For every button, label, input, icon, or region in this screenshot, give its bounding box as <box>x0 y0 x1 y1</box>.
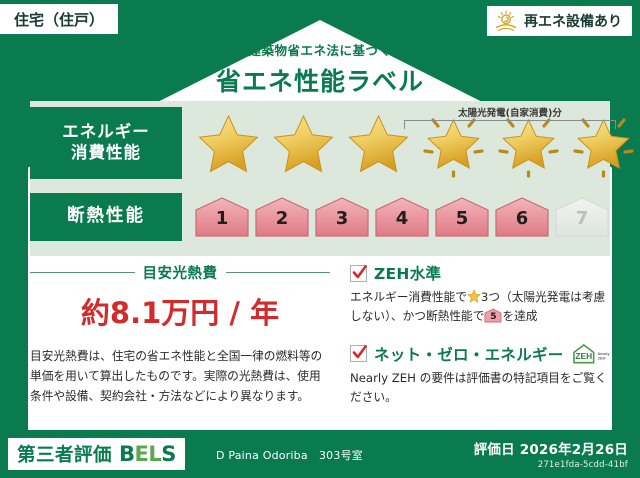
insulation-chip-inline: 5 <box>484 308 502 323</box>
insulation-chip-3: 3 <box>314 196 370 238</box>
evaluation-info: 評価日 2026年2月26日 271e1fda-5cdd-41bf <box>474 438 628 470</box>
insulation-performance-label: 断熱性能 <box>30 193 182 241</box>
energy-performance-label: エネルギー 消費性能 <box>30 107 182 179</box>
insulation-chip-inline-label: 5 <box>484 310 502 325</box>
bels-jp-label: 第三者評価 <box>17 441 112 467</box>
insulation-chip-6: 6 <box>494 196 550 238</box>
insulation-chip-label: 5 <box>434 208 490 229</box>
net-zero-energy-item: ネット・ゼロ・エネルギー ZEH Nearly ZEH Nearly ZEH の… <box>350 343 612 407</box>
insulation-grade-scale: 1 2 3 4 5 <box>182 193 610 241</box>
ratings-panel: エネルギー 消費性能 <box>30 101 610 256</box>
utility-cost-heading: 目安光熱費 <box>30 262 330 283</box>
zeh-standard-description: エネルギー消費性能で3つ（太陽光発電は考慮しない）、かつ断熱性能で5を達成 <box>350 288 612 326</box>
insulation-chip-label: 7 <box>554 208 610 229</box>
energy-performance-row: エネルギー 消費性能 <box>30 107 610 179</box>
insulation-chip-label: 2 <box>254 208 310 229</box>
insulation-chip-label: 4 <box>374 208 430 229</box>
utility-cost-note: 目安光熱費は、住宅の省エネ性能と全国一律の燃料等の単価を用いて算出したものです。… <box>30 346 330 406</box>
energy-label-line2: 消費性能 <box>71 143 141 164</box>
renewable-badge-label: 再エネ設備あり <box>524 11 622 31</box>
zeh-desc-part3: を達成 <box>502 309 537 323</box>
star-icon <box>192 108 265 178</box>
bels-letter-b: B <box>119 442 135 466</box>
heading-rule-right <box>226 272 331 273</box>
label-header: 建築物省エネ法に基づく 省エネ性能ラベル <box>0 40 640 98</box>
insulation-chip-label: 6 <box>494 208 550 229</box>
star-rating <box>182 107 640 179</box>
star-icon-solar <box>417 108 490 178</box>
bels-letter-s: S <box>161 442 176 466</box>
star-icon-solar <box>492 108 565 178</box>
zeh-standard-title-row: ZEH水準 <box>350 262 612 284</box>
utility-cost-block: 目安光熱費 約8.1万円 / 年 目安光熱費は、住宅の省エネ性能と全国一律の燃料… <box>30 262 330 406</box>
star-icon <box>342 108 415 178</box>
bels-en-logo: BELS <box>119 442 176 466</box>
zeh-section: ZEH水準 エネルギー消費性能で3つ（太陽光発電は考慮しない）、かつ断熱性能で5… <box>350 262 612 407</box>
insulation-label-text: 断熱性能 <box>67 206 145 228</box>
insulation-chip-label: 3 <box>314 208 370 229</box>
category-tag: 住宅（住戸） <box>0 4 118 34</box>
net-zero-description: Nearly ZEH の要件は評価書の特記項目をご覧ください。 <box>350 369 612 407</box>
energy-stars-area: 太陽光発電(自家消費)分 <box>182 107 640 179</box>
insulation-chip-1: 1 <box>194 196 250 238</box>
utility-cost-value: 約8.1万円 / 年 <box>30 290 330 332</box>
bels-certification-tag: 第三者評価 BELS <box>8 438 185 470</box>
svg-text:ZEH: ZEH <box>597 356 605 361</box>
insulation-chip-label: 1 <box>194 208 250 229</box>
net-zero-title: ネット・ゼロ・エネルギー <box>374 343 564 365</box>
energy-label-line1: エネルギー <box>62 122 150 143</box>
star-icon <box>267 108 340 178</box>
sun-icon <box>493 10 519 32</box>
page-title: 省エネ性能ラベル <box>0 62 640 98</box>
star-icon-inline <box>467 289 481 303</box>
insulation-chip-2: 2 <box>254 196 310 238</box>
bels-letter-el: EL <box>135 442 162 466</box>
insulation-chip-5: 5 <box>434 196 490 238</box>
evaluation-id: 271e1fda-5cdd-41bf <box>474 460 628 470</box>
property-name: D Paina Odoriba 303号室 <box>216 447 363 463</box>
renewable-equipment-badge: 再エネ設備あり <box>487 6 632 36</box>
insulation-chips-area: 1 2 3 4 5 <box>182 193 610 241</box>
heading-rule-left <box>30 272 135 273</box>
utility-cost-heading-label: 目安光熱費 <box>143 262 218 283</box>
evaluation-date: 評価日 2026年2月26日 <box>474 438 628 458</box>
insulation-performance-row: 断熱性能 1 <box>30 193 610 241</box>
insulation-chip-4: 4 <box>374 196 430 238</box>
star-icon-solar <box>567 108 640 178</box>
label-footer: 第三者評価 BELS D Paina Odoriba 303号室 評価日 202… <box>0 432 640 478</box>
insulation-chip-7: 7 <box>554 196 610 238</box>
category-tag-label: 住宅（住戸） <box>14 9 104 30</box>
net-zero-title-row: ネット・ゼロ・エネルギー ZEH Nearly ZEH <box>350 343 612 365</box>
zeh-standard-title: ZEH水準 <box>374 262 441 284</box>
svg-text:ZEH: ZEH <box>575 351 592 361</box>
checkmark-icon <box>350 265 367 282</box>
zeh-house-logo-icon: ZEH Nearly ZEH <box>571 343 612 365</box>
zeh-standard-item: ZEH水準 エネルギー消費性能で3つ（太陽光発電は考慮しない）、かつ断熱性能で5… <box>350 262 612 326</box>
energy-performance-label: 住宅（住戸） 再エネ設備あり 建築物省エネ法に基づく 省エネ性能ラベル <box>0 0 640 478</box>
zeh-desc-part1: エネルギー消費性能で <box>350 290 467 304</box>
checkmark-icon <box>350 345 367 362</box>
label-subtitle: 建築物省エネ法に基づく <box>0 40 640 59</box>
